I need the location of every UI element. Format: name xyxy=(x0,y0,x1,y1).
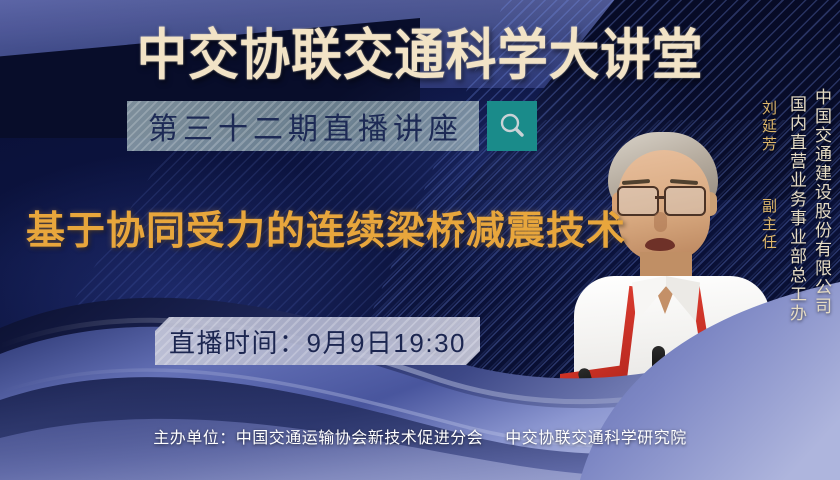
speaker-nose xyxy=(654,212,667,232)
speaker-role: 副主任 xyxy=(758,198,778,252)
glasses-lens-right xyxy=(664,186,706,216)
search-icon[interactable] xyxy=(487,101,537,151)
page-title: 中交协联交通科学大讲堂 xyxy=(34,20,807,90)
glasses-bridge xyxy=(655,196,665,199)
footer-organizer-primary: 主办单位：中国交通运输协会新技术促进分会 xyxy=(153,430,483,447)
speaker-department: 国内直营业务事业部总工办 xyxy=(785,95,807,323)
subtitle-text: 第三十二期直播讲座 xyxy=(143,104,463,148)
speaker-company: 中国交通建设股份有限公司 xyxy=(810,88,832,316)
topic-title: 基于协同受力的连续梁桥减震技术 xyxy=(26,206,626,258)
footer-organizer-secondary: 中交协联交通科学研究院 xyxy=(505,430,687,447)
footer-organizers: 主办单位：中国交通运输协会新技术促进分会中交协联交通科学研究院 xyxy=(0,424,840,448)
broadcast-time-badge: 直播时间：9月9日19:30 xyxy=(155,317,480,365)
live-broadcast-poster: 中交协联交通科学大讲堂 第三十二期直播讲座 基于协同受力的连续梁桥减震技术 直播… xyxy=(0,0,840,480)
broadcast-time-text: 直播时间：9月9日19:30 xyxy=(169,323,466,360)
speaker-name: 刘延芳 xyxy=(758,100,778,154)
subtitle-bar: 第三十二期直播讲座 xyxy=(127,101,479,151)
